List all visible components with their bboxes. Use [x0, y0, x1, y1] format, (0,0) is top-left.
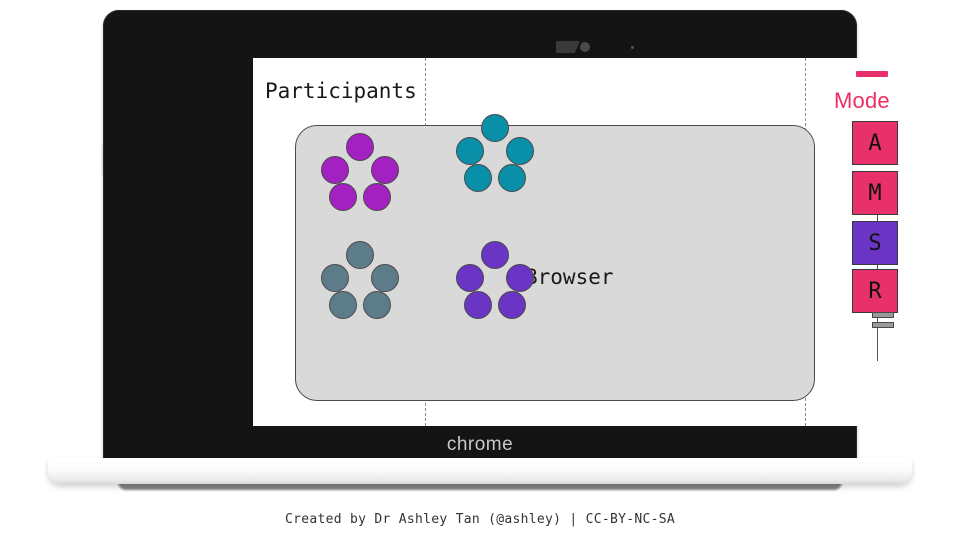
participant-dot[interactable]	[481, 241, 509, 269]
participant-dot[interactable]	[329, 183, 357, 211]
participant-dot[interactable]	[506, 137, 534, 165]
laptop-screen: Participants Browser	[253, 58, 913, 426]
magenta-participant-cluster[interactable]	[321, 133, 399, 211]
mode-button-m[interactable]: M	[852, 171, 898, 215]
webcam-indicator-dot	[631, 46, 634, 49]
mode-panel-title: Mode	[834, 88, 890, 114]
teal-participant-cluster[interactable]	[456, 114, 534, 192]
diagram-canvas: Participants Browser	[253, 58, 913, 426]
participant-dot[interactable]	[371, 264, 399, 292]
list-rows-icon[interactable]	[872, 312, 894, 329]
participant-dot[interactable]	[346, 133, 374, 161]
participant-dot[interactable]	[363, 291, 391, 319]
participant-dot[interactable]	[506, 264, 534, 292]
screenshot-root: Participants Browser	[0, 0, 960, 540]
violet-participant-cluster[interactable]	[456, 241, 534, 319]
participant-dot[interactable]	[498, 164, 526, 192]
participant-dot[interactable]	[363, 183, 391, 211]
laptop-base-lip	[48, 458, 912, 461]
participant-dot[interactable]	[371, 156, 399, 184]
list-row-bar	[872, 312, 894, 318]
laptop-base	[48, 458, 912, 484]
participant-dot[interactable]	[456, 137, 484, 165]
page-title: Participants	[265, 79, 417, 103]
chrome-brand-label: chrome	[103, 434, 857, 456]
participant-dot[interactable]	[321, 156, 349, 184]
participant-dot[interactable]	[321, 264, 349, 292]
mode-accent-bar	[856, 71, 888, 77]
laptop-lid: Participants Browser	[103, 10, 857, 462]
participant-dot[interactable]	[456, 264, 484, 292]
participant-dot[interactable]	[329, 291, 357, 319]
mode-button-r[interactable]: R	[852, 269, 898, 313]
mode-button-s[interactable]: S	[852, 221, 898, 265]
list-row-bar	[872, 322, 894, 328]
participant-dot[interactable]	[498, 291, 526, 319]
chromebook-device: Participants Browser	[0, 0, 960, 500]
attribution-caption: Created by Dr Ashley Tan (@ashley) | CC-…	[0, 512, 960, 527]
participant-dot[interactable]	[481, 114, 509, 142]
participant-dot[interactable]	[346, 241, 374, 269]
participant-dot[interactable]	[464, 291, 492, 319]
mode-button-a[interactable]: A	[852, 121, 898, 165]
webcam-icon	[556, 40, 606, 54]
mode-panel: Mode A M S R	[828, 58, 913, 426]
webcam-body	[556, 41, 580, 53]
webcam-lens	[580, 42, 590, 52]
participant-dot[interactable]	[464, 164, 492, 192]
browser-label: Browser	[525, 265, 614, 289]
slate-participant-cluster[interactable]	[321, 241, 399, 319]
